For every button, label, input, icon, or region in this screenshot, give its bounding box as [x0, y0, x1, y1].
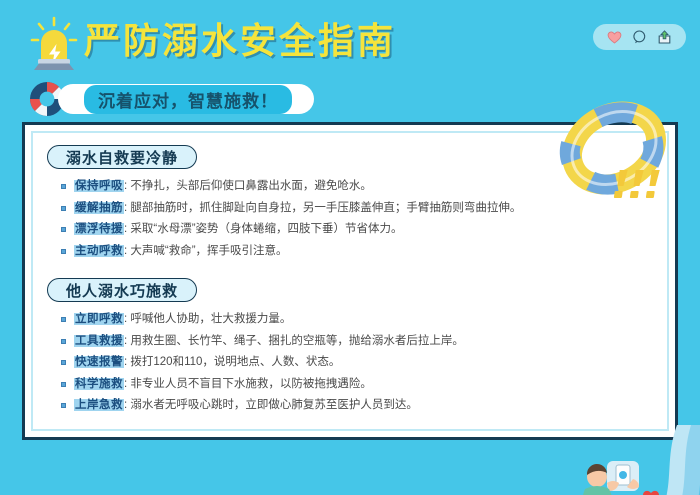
list-item-text: 科学施救: 非专业人员不盲目下水施救，以防被拖拽遇险。 [74, 376, 657, 393]
list-item-text: 立即呼救: 呼喊他人协助，壮大救援力量。 [74, 311, 657, 328]
item-label: 立即呼救 [74, 313, 124, 325]
social-actions [593, 24, 686, 50]
list-item: 科学施救: 非专业人员不盲目下水施救，以防被拖拽遇险。 [47, 376, 657, 393]
list-item-text: 缓解抽筋: 腿部抽筋时，抓住脚趾向自身拉，另一手压膝盖伸直；手臂抽筋则弯曲拉伸。 [74, 200, 657, 217]
item-detail: 用救生圈、长竹竿、绳子、捆扎的空瓶等，抛给溺水者后拉上岸。 [130, 335, 464, 347]
item-label: 漂浮待援 [74, 223, 124, 235]
bullet-icon [61, 184, 66, 189]
list-item-text: 漂浮待援: 采取“水母漂”姿势（身体蜷缩，四肢下垂）节省体力。 [74, 221, 657, 238]
exclamation-marks-icon [614, 168, 670, 204]
bullet-icon [61, 382, 66, 387]
item-label: 保持呼吸 [74, 180, 124, 192]
list-item-text: 主动呼救: 大声喊“救命”，挥手吸引注意。 [74, 243, 657, 260]
item-detail: 非专业人员不盲目下水施救，以防被拖拽遇险。 [130, 378, 372, 390]
bullet-icon [61, 227, 66, 232]
share-icon[interactable] [657, 30, 672, 44]
bullet-icon [61, 403, 66, 408]
section-title-rescue-others: 他人溺水巧施救 [47, 278, 197, 302]
list-item: 缓解抽筋: 腿部抽筋时，抓住脚趾向自身拉，另一手压膝盖伸直；手臂抽筋则弯曲拉伸。 [47, 200, 657, 217]
item-detail: 不挣扎，头部后仰使口鼻露出水面，避免呛水。 [130, 180, 372, 192]
comment-icon[interactable] [632, 30, 647, 44]
subtitle-inner: 沉着应对，智慧施救！ [84, 85, 292, 114]
list-item: 工具救援: 用救生圈、长竹竿、绳子、捆扎的空瓶等，抛给溺水者后拉上岸。 [47, 333, 657, 350]
item-detail: 呼喊他人协助，壮大救援力量。 [130, 313, 291, 325]
bullet-icon [61, 317, 66, 322]
item-detail: 采取“水母漂”姿势（身体蜷缩，四肢下垂）节省体力。 [130, 223, 402, 235]
list-item-text: 工具救援: 用救生圈、长竹竿、绳子、捆扎的空瓶等，抛给溺水者后拉上岸。 [74, 333, 657, 350]
list-item: 上岸急救: 溺水者无呼吸心跳时，立即做心肺复苏至医护人员到达。 [47, 397, 657, 414]
warning-beacon-icon [28, 16, 80, 72]
list-item: 快速报警: 拨打120和110，说明地点、人数、状态。 [47, 354, 657, 371]
item-detail: 腿部抽筋时，抓住脚趾向自身拉，另一手压膝盖伸直；手臂抽筋则弯曲拉伸。 [130, 202, 521, 214]
poster-canvas: 严防溺水安全指南 沉着应对，智慧施救！ [0, 0, 700, 495]
rescue-others-list: 立即呼救: 呼喊他人协助，壮大救援力量。 工具救援: 用救生圈、长竹竿、绳子、捆… [47, 311, 657, 414]
subtitle-pill: 沉着应对，智慧施救！ [58, 84, 314, 114]
item-label: 快速报警 [74, 356, 124, 368]
bullet-icon [61, 339, 66, 344]
subtitle-text: 沉着应对，智慧施救！ [98, 87, 278, 112]
item-detail: 溺水者无呼吸心跳时，立即做心肺复苏至医护人员到达。 [130, 399, 418, 411]
item-label: 缓解抽筋 [74, 202, 124, 214]
bullet-icon [61, 249, 66, 254]
item-label: 科学施救 [74, 378, 124, 390]
list-item: 主动呼救: 大声喊“救命”，挥手吸引注意。 [47, 243, 657, 260]
item-label: 主动呼救 [74, 245, 124, 257]
list-item: 立即呼救: 呼喊他人协助，壮大救援力量。 [47, 311, 657, 328]
page-title: 严防溺水安全指南 [84, 19, 396, 63]
list-item-text: 上岸急救: 溺水者无呼吸心跳时，立即做心肺复苏至医护人员到达。 [74, 397, 657, 414]
section-title-self-rescue: 溺水自救要冷静 [47, 145, 197, 169]
bullet-icon [61, 360, 66, 365]
item-label: 工具救援 [74, 335, 124, 347]
item-detail: 大声喊“救命”，挥手吸引注意。 [130, 245, 287, 257]
heart-icon[interactable] [607, 30, 622, 44]
list-item-text: 快速报警: 拨打120和110，说明地点、人数、状态。 [74, 354, 657, 371]
item-detail: 拨打120和110，说明地点、人数、状态。 [130, 356, 340, 368]
cpr-rescue-illustration [523, 455, 700, 495]
list-item: 漂浮待援: 采取“水母漂”姿势（身体蜷缩，四肢下垂）节省体力。 [47, 221, 657, 238]
bullet-icon [61, 206, 66, 211]
item-label: 上岸急救 [74, 399, 124, 411]
